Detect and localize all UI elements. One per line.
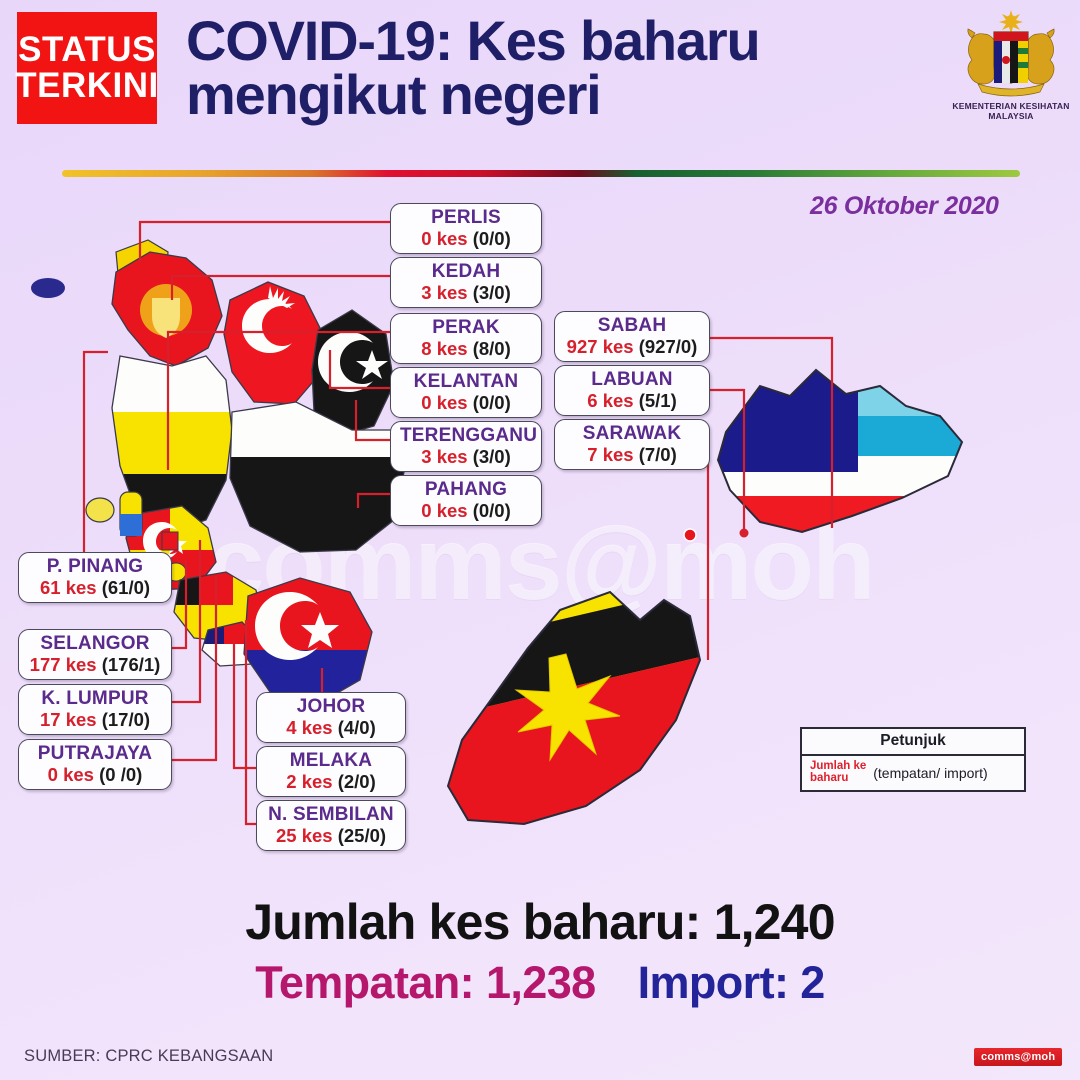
callout-perak[interactable]: PERAK 8 kes (8/0) <box>390 313 542 364</box>
status-badge-line1: STATUS <box>18 32 156 68</box>
callout-kuala-lumpur[interactable]: K. LUMPUR 17 kes (17/0) <box>18 684 172 735</box>
color-divider-bar <box>62 170 1020 177</box>
state-value: 8 kes (8/0) <box>400 339 532 358</box>
callout-selangor[interactable]: SELANGOR 177 kes (176/1) <box>18 629 172 680</box>
state-cases: 0 <box>421 500 431 521</box>
state-unit: kes <box>437 392 468 413</box>
state-unit: kes <box>63 764 94 785</box>
callout-perlis[interactable]: PERLIS 0 kes (0/0) <box>390 203 542 254</box>
state-value: 0 kes (0 /0) <box>28 765 162 784</box>
state-name: SABAH <box>564 316 700 336</box>
state-unit: kes <box>66 654 97 675</box>
state-cases: 3 <box>421 446 431 467</box>
state-unit: kes <box>603 336 634 357</box>
state-cases: 0 <box>48 764 58 785</box>
status-badge: STATUS TERKINI <box>17 12 157 124</box>
state-name: LABUAN <box>564 370 700 390</box>
state-breakdown: (17/0) <box>102 709 150 730</box>
state-breakdown: (4/0) <box>338 717 376 738</box>
total-import: Import: 2 <box>638 957 825 1008</box>
state-breakdown: (25/0) <box>338 825 386 846</box>
legend-black-label: (tempatan/ import) <box>873 765 987 781</box>
map-island-langkawi <box>31 278 65 298</box>
state-value: 0 kes (0/0) <box>400 393 532 412</box>
legend-red-line2: baharu <box>810 773 866 785</box>
callout-terengganu[interactable]: TERENGGANU 3 kes (3/0) <box>390 421 542 472</box>
state-cases: 8 <box>421 338 431 359</box>
state-name: PUTRAJAYA <box>28 744 162 764</box>
state-cases: 17 <box>40 709 61 730</box>
state-cases: 4 <box>286 717 296 738</box>
state-name: SELANGOR <box>28 634 162 654</box>
state-breakdown: (927/0) <box>639 336 698 357</box>
moh-logo: KEMENTERIAN KESIHATAN MALAYSIA <box>948 8 1074 130</box>
total-breakdown: Tempatan: 1,238Import: 2 <box>0 957 1080 1009</box>
map-state-pinang <box>86 492 142 536</box>
state-cases: 25 <box>276 825 297 846</box>
state-value: 61 kes (61/0) <box>28 578 162 597</box>
state-cases: 7 <box>587 444 597 465</box>
legend-petunjuk: Petunjuk Jumlah ke baharu (tempatan/ imp… <box>800 727 1026 792</box>
callout-kelantan[interactable]: KELANTAN 0 kes (0/0) <box>390 367 542 418</box>
state-value: 0 kes (0/0) <box>400 229 532 248</box>
map-state-sarawak <box>430 580 730 840</box>
callout-melaka[interactable]: MELAKA 2 kes (2/0) <box>256 746 406 797</box>
state-value: 17 kes (17/0) <box>28 710 162 729</box>
state-unit: kes <box>302 771 333 792</box>
map-state-pahang <box>220 395 420 557</box>
state-value: 2 kes (2/0) <box>266 772 396 791</box>
state-value: 0 kes (0/0) <box>400 501 532 520</box>
state-name: KEDAH <box>400 262 532 282</box>
callout-pahang[interactable]: PAHANG 0 kes (0/0) <box>390 475 542 526</box>
state-name: TERENGGANU <box>400 426 532 446</box>
state-unit: kes <box>437 282 468 303</box>
state-breakdown: (0/0) <box>473 500 511 521</box>
state-name: N. SEMBILAN <box>266 805 396 825</box>
legend-red-label: Jumlah ke baharu <box>810 761 866 784</box>
state-breakdown: (3/0) <box>473 446 511 467</box>
state-name: PAHANG <box>400 480 532 500</box>
callout-negeri-sembilan[interactable]: N. SEMBILAN 25 kes (25/0) <box>256 800 406 851</box>
state-value: 177 kes (176/1) <box>28 655 162 674</box>
state-unit: kes <box>437 446 468 467</box>
callout-putrajaya[interactable]: PUTRAJAYA 0 kes (0 /0) <box>18 739 172 790</box>
state-breakdown: (3/0) <box>473 282 511 303</box>
state-cases: 2 <box>286 771 296 792</box>
legend-red-line1: Jumlah ke <box>810 761 866 773</box>
map-federal-territory-kl <box>162 532 178 550</box>
state-cases: 3 <box>421 282 431 303</box>
state-cases: 0 <box>421 228 431 249</box>
moh-caption-line2: MALAYSIA <box>948 111 1074 121</box>
state-unit: kes <box>66 709 97 730</box>
state-unit: kes <box>437 338 468 359</box>
state-breakdown: (0/0) <box>473 228 511 249</box>
state-breakdown: (5/1) <box>639 390 677 411</box>
state-cases: 927 <box>567 336 598 357</box>
state-breakdown: (0 /0) <box>99 764 142 785</box>
state-cases: 177 <box>30 654 61 675</box>
comms-moh-badge: comms@moh <box>974 1048 1062 1066</box>
map-federal-territory-labuan <box>684 529 696 541</box>
status-badge-line2: TERKINI <box>15 68 159 104</box>
callout-labuan[interactable]: LABUAN 6 kes (5/1) <box>554 365 710 416</box>
state-name: P. PINANG <box>28 557 162 577</box>
total-tempatan: Tempatan: 1,238 <box>255 957 595 1008</box>
state-name: JOHOR <box>266 697 396 717</box>
state-name: K. LUMPUR <box>28 689 162 709</box>
state-breakdown: (176/1) <box>102 654 161 675</box>
total-new-cases: Jumlah kes baharu: 1,240 <box>0 893 1080 951</box>
callout-sabah[interactable]: SABAH 927 kes (927/0) <box>554 311 710 362</box>
state-breakdown: (2/0) <box>338 771 376 792</box>
state-breakdown: (0/0) <box>473 392 511 413</box>
state-unit: kes <box>302 717 333 738</box>
page-title: COVID-19: Kes baharu mengikut negeri <box>186 14 946 122</box>
map-state-sabah <box>700 357 990 556</box>
moh-logo-caption: KEMENTERIAN KESIHATAN MALAYSIA <box>948 101 1074 121</box>
state-value: 4 kes (4/0) <box>266 718 396 737</box>
title-line-2: mengikut negeri <box>186 68 946 122</box>
state-cases: 0 <box>421 392 431 413</box>
report-date: 26 Oktober 2020 <box>810 192 999 221</box>
state-name: PERLIS <box>400 208 532 228</box>
state-breakdown: (7/0) <box>639 444 677 465</box>
state-name: MELAKA <box>266 751 396 771</box>
state-unit: kes <box>603 444 634 465</box>
callout-sarawak[interactable]: SARAWAK 7 kes (7/0) <box>554 419 710 470</box>
state-cases: 6 <box>587 390 597 411</box>
state-breakdown: (61/0) <box>102 577 150 598</box>
legend-body: Jumlah ke baharu (tempatan/ import) <box>802 756 1024 790</box>
callout-johor[interactable]: JOHOR 4 kes (4/0) <box>256 692 406 743</box>
state-value: 6 kes (5/1) <box>564 391 700 410</box>
state-value: 25 kes (25/0) <box>266 826 396 845</box>
legend-title: Petunjuk <box>802 729 1024 756</box>
state-unit: kes <box>437 500 468 521</box>
state-unit: kes <box>603 390 634 411</box>
map-state-johor <box>238 572 383 712</box>
state-name: PERAK <box>400 318 532 338</box>
state-cases: 61 <box>40 577 61 598</box>
state-unit: kes <box>437 228 468 249</box>
state-value: 7 kes (7/0) <box>564 445 700 464</box>
state-name: SARAWAK <box>564 424 700 444</box>
callout-kedah[interactable]: KEDAH 3 kes (3/0) <box>390 257 542 308</box>
state-value: 3 kes (3/0) <box>400 447 532 466</box>
state-breakdown: (8/0) <box>473 338 511 359</box>
source-text: SUMBER: CPRC KEBANGSAAN <box>24 1047 273 1066</box>
state-unit: kes <box>66 577 97 598</box>
moh-caption-line1: KEMENTERIAN KESIHATAN <box>948 101 1074 111</box>
infographic-canvas: comms@moh <box>0 0 1080 1080</box>
state-value: 927 kes (927/0) <box>564 337 700 356</box>
state-value: 3 kes (3/0) <box>400 283 532 302</box>
callout-pulau-pinang[interactable]: P. PINANG 61 kes (61/0) <box>18 552 172 603</box>
malaysia-coat-of-arms-icon <box>948 8 1074 100</box>
state-unit: kes <box>302 825 333 846</box>
state-name: KELANTAN <box>400 372 532 392</box>
